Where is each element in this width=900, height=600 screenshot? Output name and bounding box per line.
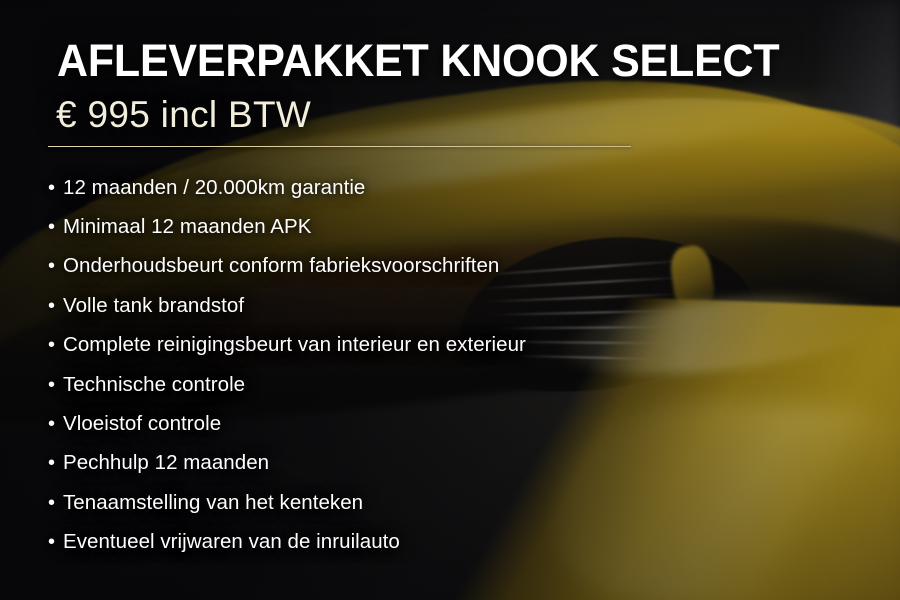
feature-label: Pechhulp 12 maanden — [63, 451, 269, 475]
list-item: •Onderhoudsbeurt conform fabrieksvoorsch… — [48, 247, 748, 286]
feature-label: Onderhoudsbeurt conform fabrieksvoorschr… — [63, 254, 499, 278]
promo-card: AFLEVERPAKKET KNOOK SELECT € 995 incl BT… — [0, 0, 900, 600]
bullet-icon: • — [48, 532, 63, 552]
package-price: € 995 incl BTW — [56, 94, 311, 136]
feature-list: •12 maanden / 20.000km garantie•Minimaal… — [48, 168, 748, 562]
bullet-icon: • — [48, 296, 63, 316]
list-item: •12 maanden / 20.000km garantie — [48, 168, 748, 207]
bullet-icon: • — [48, 335, 63, 355]
feature-label: Eventueel vrijwaren van de inruilauto — [63, 530, 400, 554]
list-item: •Tenaamstelling van het kenteken — [48, 483, 748, 522]
bullet-icon: • — [48, 453, 63, 473]
feature-label: Minimaal 12 maanden APK — [63, 215, 311, 239]
list-item: •Eventueel vrijwaren van de inruilauto — [48, 523, 748, 562]
bullet-icon: • — [48, 217, 63, 237]
card-content: AFLEVERPAKKET KNOOK SELECT € 995 incl BT… — [0, 0, 900, 600]
feature-label: Vloeistof controle — [63, 412, 221, 436]
list-item: •Vloeistof controle — [48, 404, 748, 443]
feature-label: Complete reinigingsbeurt van interieur e… — [63, 333, 526, 357]
feature-label: Tenaamstelling van het kenteken — [63, 491, 363, 515]
feature-label: Technische controle — [63, 373, 245, 397]
package-title: AFLEVERPAKKET KNOOK SELECT — [57, 35, 779, 87]
bullet-icon: • — [48, 256, 63, 276]
list-item: •Pechhulp 12 maanden — [48, 444, 748, 483]
list-item: •Volle tank brandstof — [48, 286, 748, 325]
list-item: •Technische controle — [48, 365, 748, 404]
bullet-icon: • — [48, 414, 63, 434]
title-divider — [48, 146, 631, 147]
list-item: •Minimaal 12 maanden APK — [48, 207, 748, 246]
list-item: •Complete reinigingsbeurt van interieur … — [48, 326, 748, 365]
bullet-icon: • — [48, 178, 63, 198]
feature-label: Volle tank brandstof — [63, 294, 244, 318]
feature-label: 12 maanden / 20.000km garantie — [63, 176, 365, 200]
bullet-icon: • — [48, 375, 63, 395]
bullet-icon: • — [48, 493, 63, 513]
